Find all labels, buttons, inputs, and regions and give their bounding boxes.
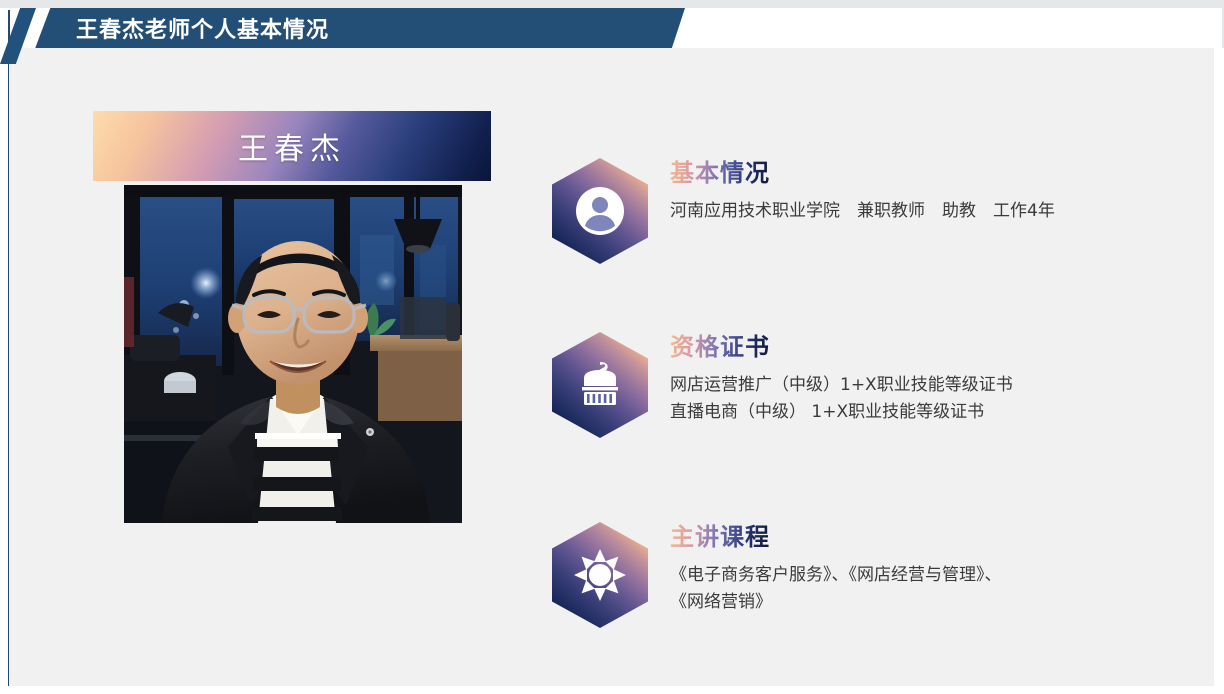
certificate-line-1: 网店运营推广（中级）1+X职业技能等级证书 [670,372,1013,400]
courses-text: 主讲课程 《电子商务客户服务》、《网店经营与管理》、 《网络营销》 [670,522,1002,617]
certificate-line-2: 直播电商（中级） 1+X职业技能等级证书 [670,399,1013,427]
course-line-2: 《网络营销》 [670,589,1002,617]
brush-icon [552,332,648,438]
course-line-1: 《电子商务客户服务》、《网店经营与管理》、 [670,562,1002,590]
page-title: 王春杰老师个人基本情况 [76,12,329,44]
basic-info-text: 基本情况 河南应用技术职业学院 兼职教师 助教 工作4年 [670,158,1055,225]
section-heading-certificates: 资格证书 [670,334,770,362]
info-section-certificates: 资格证书 网店运营推广（中级）1+X职业技能等级证书 直播电商（中级） 1+X职… [552,332,1013,438]
info-section-basic: 基本情况 河南应用技术职业学院 兼职教师 助教 工作4年 [552,158,1055,264]
section-heading-courses: 主讲课程 [670,524,770,552]
slide-canvas: 王春杰老师个人基本情况 王春杰 [0,0,1224,694]
slide-header-banner: 王春杰老师个人基本情况 [30,8,685,48]
basic-info-line-1: 河南应用技术职业学院 兼职教师 助教 工作4年 [670,198,1055,226]
sun-icon [552,522,648,628]
person-icon [552,158,648,264]
info-section-courses: 主讲课程 《电子商务客户服务》、《网店经营与管理》、 《网络营销》 [552,522,1002,628]
section-heading-basic: 基本情况 [670,160,770,188]
name-plate: 王春杰 [93,111,491,181]
portrait-photo [124,185,462,523]
teacher-name: 王春杰 [238,124,346,168]
top-edge-divider [0,0,1224,8]
certificates-text: 资格证书 网店运营推广（中级）1+X职业技能等级证书 直播电商（中级） 1+X职… [670,332,1013,427]
